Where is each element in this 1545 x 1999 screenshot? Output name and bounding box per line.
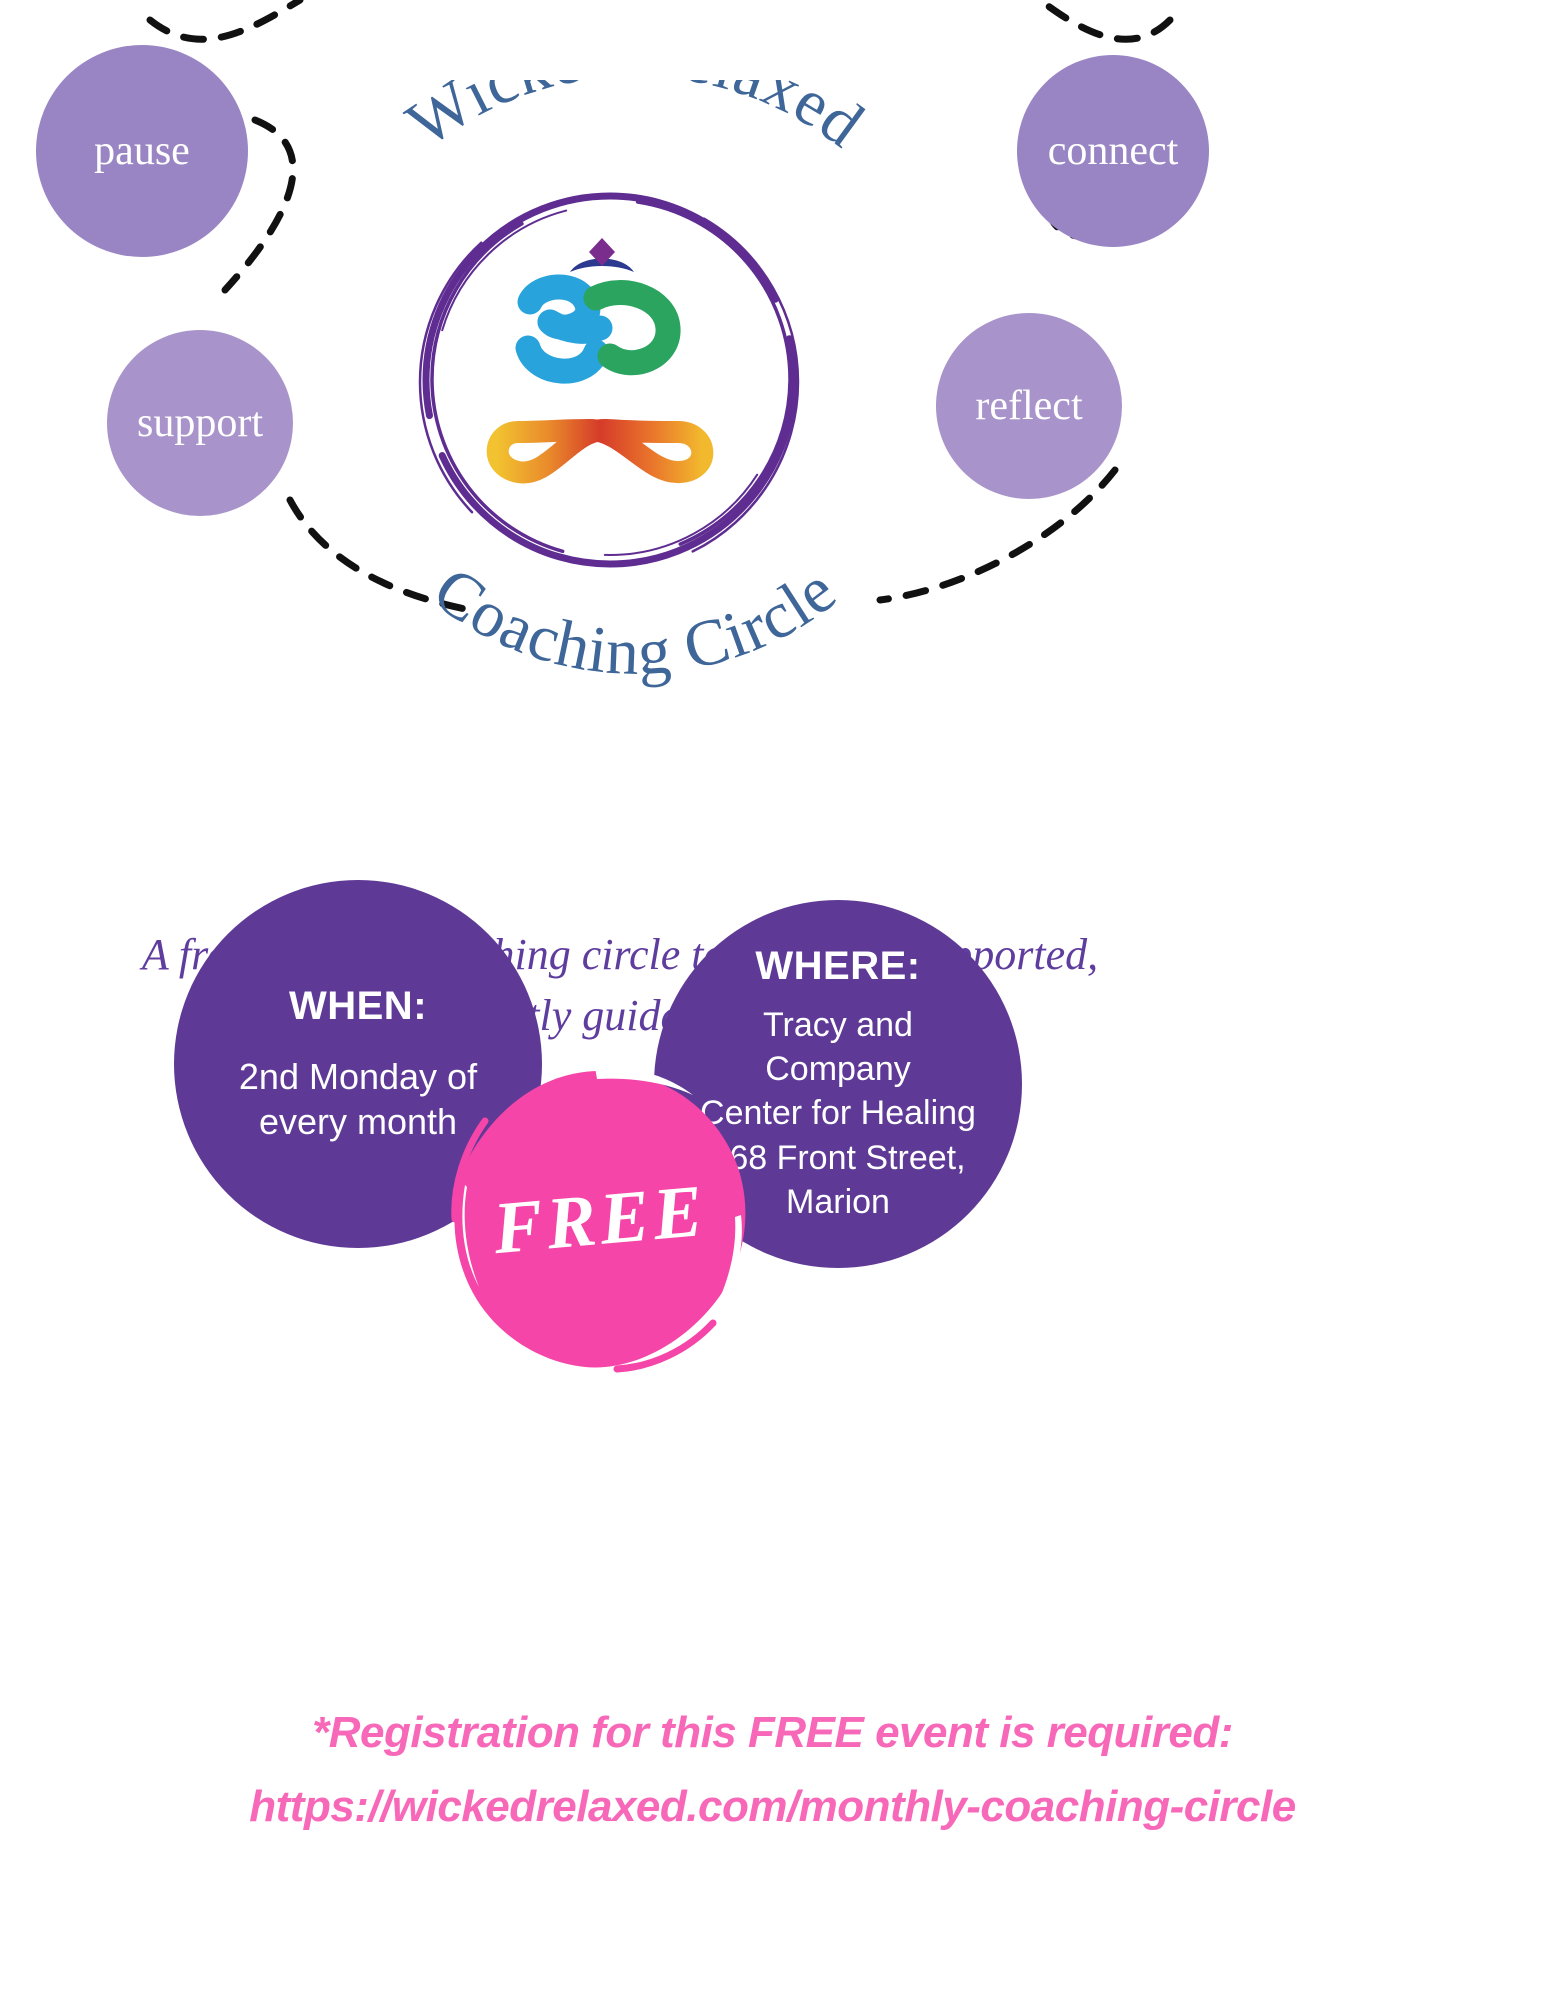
value-bubble-pause: pause	[36, 45, 248, 257]
free-badge-label: FREE	[432, 1052, 768, 1388]
registration-url[interactable]: https://wickedrelaxed.com/monthly-coachi…	[60, 1774, 1485, 1840]
free-badge: FREE	[445, 1065, 755, 1375]
value-bubble-support: support	[107, 330, 293, 516]
value-bubble-connect: connect	[1017, 55, 1209, 247]
logo-title-line2: Coaching Circle	[420, 553, 849, 689]
when-heading: WHEN:	[289, 984, 427, 1029]
value-bubble-label: connect	[1048, 130, 1179, 172]
logo-cluster: pause support connect reflect	[0, 0, 1545, 860]
registration-note: *Registration for this FREE event is req…	[60, 1700, 1485, 1766]
value-bubble-label: support	[137, 402, 263, 444]
when-line-2: every month	[259, 1100, 457, 1145]
logo-title: Wicked Relaxed Coaching Circle	[285, 80, 985, 700]
logo-title-line1: Wicked Relaxed	[394, 80, 877, 162]
footer: *Registration for this FREE event is req…	[60, 1700, 1485, 1840]
where-line-4: Marion	[786, 1180, 890, 1224]
value-bubble-label: reflect	[975, 385, 1082, 427]
where-heading: WHERE:	[755, 944, 920, 989]
value-bubble-label: pause	[94, 130, 190, 172]
